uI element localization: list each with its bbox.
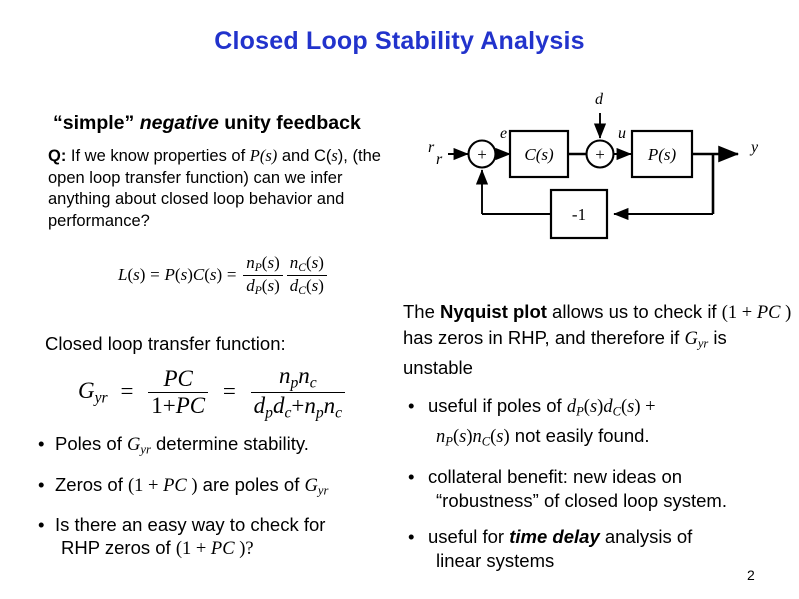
control-label: u xyxy=(618,125,626,142)
bullet-math-Gyr: Gyr xyxy=(127,433,151,454)
bullet-text-line1: Is there an easy way to check for xyxy=(55,514,325,535)
eq-Gyr-equals-1: = xyxy=(120,378,133,403)
bullet-bold-time-delay: time delay xyxy=(509,526,600,547)
nyquist-line3-math: Gyr xyxy=(684,327,708,348)
bullet-marker: • xyxy=(38,473,55,496)
nyquist-line2-math: (1 + PC ) xyxy=(722,301,792,322)
error-label: e xyxy=(500,125,507,142)
eq-L-p4: ) xyxy=(217,265,223,284)
question-math-P: P(s) xyxy=(250,146,278,165)
eq-L-fraction-plant: nP(s) dP(s) xyxy=(243,253,283,298)
eq-Gyr-equals-2: = xyxy=(223,378,236,403)
eq-L-C: C xyxy=(193,265,204,284)
feedback-gain-label: -1 xyxy=(572,205,586,224)
list-item: •Poles of Gyr determine stability. xyxy=(38,432,403,462)
bullet-marker: • xyxy=(38,432,55,455)
question-text-a: If we know properties of xyxy=(66,147,249,165)
eq-L-P: P xyxy=(165,265,175,284)
bullet-marker: • xyxy=(408,394,428,418)
heading-part-quote: “simple” xyxy=(53,112,140,134)
nyquist-paragraph: The Nyquist plot allows us to check if (… xyxy=(403,300,795,379)
eq-Gyr-lhs: Gyr xyxy=(78,377,108,403)
bullet-text-after: determine stability. xyxy=(151,433,309,454)
eq-Gyr-frac2-num: npnc xyxy=(251,363,345,392)
eq-Gyr-frac2-den: dpdc+npnc xyxy=(251,392,345,422)
equation-open-loop-L: L(s) = P(s)C(s) = nP(s) dP(s) nC(s) dC(s… xyxy=(118,253,329,298)
closed-loop-transfer-function-label: Closed loop transfer function: xyxy=(45,333,286,355)
eq-L-lhs-paren2: ) xyxy=(140,265,146,284)
page-number: 2 xyxy=(747,567,755,583)
bullet-text-line1: collateral benefit: new ideas on xyxy=(428,466,682,487)
eq-L-s2: s xyxy=(210,265,217,284)
bullet-math-denominators: dP(s)dC(s) + xyxy=(567,395,656,416)
output-label: y xyxy=(749,139,759,156)
disturbance-sum-plus: + xyxy=(595,145,605,164)
eq-Gyr-fraction-poly: npnc dpdc+npnc xyxy=(251,363,345,422)
slide-canvas: Closed Loop Stability Analysis “simple” … xyxy=(0,0,799,599)
bullet-text-line2: “robustness” of closed loop system. xyxy=(436,490,727,511)
left-bullet-list: •Poles of Gyr determine stability. •Zero… xyxy=(38,432,403,572)
bullet-marker: • xyxy=(408,525,428,549)
bullet-text-before: useful for xyxy=(428,526,509,547)
reference-label: r xyxy=(428,139,435,156)
eq-Gyr-fraction-PC: PC 1+PC xyxy=(148,366,208,419)
eq-Gyr-frac1-den: 1+PC xyxy=(148,392,208,419)
eq-L-frac2-num: nC(s) xyxy=(287,253,327,275)
nyquist-line3-before: therefore if xyxy=(591,327,685,348)
list-item: •collateral benefit: new ideas on “robus… xyxy=(400,465,796,513)
eq-L-equals-1: = xyxy=(150,265,160,284)
question-text-b: and C( xyxy=(277,147,331,165)
bullet-marker: • xyxy=(38,513,55,536)
bullet-math-Gyr: Gyr xyxy=(305,474,329,495)
list-item: •useful for time delay analysis of linea… xyxy=(400,525,796,573)
list-item: •Is there an easy way to check for RHP z… xyxy=(38,513,403,561)
eq-L-frac2-den: dC(s) xyxy=(287,275,327,298)
eq-Gyr-frac1-num: PC xyxy=(148,366,208,392)
equation-closed-loop-Gyr: Gyr = PC 1+PC = npnc dpdc+npnc xyxy=(78,363,347,422)
bullet-text-before: useful if poles of xyxy=(428,395,567,416)
heading-part-emphasis: negative xyxy=(140,112,219,134)
eq-L-lhs-s: s xyxy=(133,265,140,284)
nyquist-line2-rest: has zeros in RHP, and xyxy=(403,327,586,348)
controller-label: C(s) xyxy=(524,145,554,164)
page-title: Closed Loop Stability Analysis xyxy=(0,27,799,56)
question-paragraph: Q: If we know properties of P(s) and C(s… xyxy=(48,145,408,232)
heading-simple-negative-unity-feedback: “simple” negative unity feedback xyxy=(53,112,361,135)
bullet-marker: • xyxy=(408,465,428,489)
question-text-c: ), xyxy=(338,147,348,165)
eq-L-frac1-num: nP(s) xyxy=(243,253,283,275)
nyquist-bold-term: Nyquist plot xyxy=(440,301,547,322)
eq-L-equals-2: = xyxy=(227,265,237,284)
block-diagram-svg: + + C(s) P(s) -1 r r e d u y xyxy=(420,88,799,248)
bullet-text-after: analysis of xyxy=(600,526,693,547)
bullet-math-numerators: nP(s)nC(s) xyxy=(436,425,510,446)
nyquist-text-after: allows us to check if xyxy=(547,301,717,322)
list-item: •useful if poles of dP(s)dC(s) + nP(s)nC… xyxy=(400,394,796,453)
feedback-block-diagram: + + C(s) P(s) -1 r r e d u y xyxy=(420,88,799,248)
bullet-text-zeros: Zeros of (1 + PC ) are poles of xyxy=(55,474,305,495)
eq-L-fraction-controller: nC(s) dC(s) xyxy=(287,253,327,298)
bullet-text-line2: RHP zeros of (1 + PC )? xyxy=(61,537,254,558)
bullet-text-before: Poles of xyxy=(55,433,127,454)
reference-label-shadow: r xyxy=(436,151,443,168)
error-sum-plus: + xyxy=(477,145,487,164)
eq-L-frac1-den: dP(s) xyxy=(243,275,283,298)
bullet-text-line2: linear systems xyxy=(436,550,554,571)
question-label: Q: xyxy=(48,147,66,165)
disturbance-label: d xyxy=(595,91,604,108)
heading-part-rest: unity feedback xyxy=(219,112,361,134)
right-bullet-list: •useful if poles of dP(s)dC(s) + nP(s)nC… xyxy=(400,394,796,585)
list-item: •Zeros of (1 + PC ) are poles of Gyr xyxy=(38,473,403,503)
nyquist-text-before: The xyxy=(403,301,440,322)
bullet-text-after: not easily found. xyxy=(510,425,650,446)
plant-label: P(s) xyxy=(647,145,677,164)
